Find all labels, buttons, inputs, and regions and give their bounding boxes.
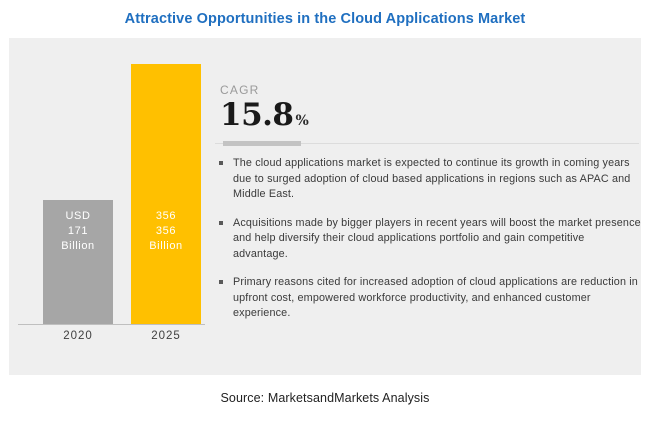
page-title-text: Attractive Opportunities in the Cloud Ap…: [125, 11, 526, 27]
page-title: Attractive Opportunities in the Cloud Ap…: [0, 6, 650, 32]
cagr-percent-symbol: %: [296, 113, 309, 129]
chart-plot-area: USD 171 Billion 356 356 Billion: [18, 38, 208, 324]
x-axis-line: [18, 324, 205, 325]
cagr-value-row: 15.8 %: [220, 98, 520, 132]
bar-2020-label-line1: USD: [65, 210, 90, 222]
cagr-value: 15.8: [220, 98, 294, 132]
bar-chart: USD 171 Billion 356 356 Billion 2020 20: [18, 38, 208, 375]
bullet-square-icon: [219, 161, 223, 165]
insights-column: CAGR 15.8 % The cloud applications marke…: [211, 38, 641, 375]
bullet-text: The cloud applications market is expecte…: [233, 157, 630, 200]
bar-2020-value-label: USD 171 Billion: [61, 209, 95, 254]
bar-2025-value-label: 356 356 Billion: [149, 209, 183, 254]
list-item: Primary reasons cited for increased adop…: [213, 275, 641, 322]
bullet-text: Primary reasons cited for increased adop…: [233, 276, 638, 319]
bullet-square-icon: [219, 280, 223, 284]
bullet-list: The cloud applications market is expecte…: [213, 156, 641, 322]
list-item: The cloud applications market is expecte…: [213, 156, 641, 203]
content-panel: USD 171 Billion 356 356 Billion 2020 20: [9, 38, 641, 375]
bar-2020: USD 171 Billion: [43, 200, 113, 324]
bullet-square-icon: [219, 221, 223, 225]
list-item: Acquisitions made by bigger players in r…: [213, 216, 641, 263]
bar-2025-label-line2: 356: [156, 225, 176, 237]
infographic-root: Attractive Opportunities in the Cloud Ap…: [0, 0, 650, 421]
bullet-text: Acquisitions made by bigger players in r…: [233, 217, 641, 260]
x-axis-labels: 2020 2025: [18, 330, 208, 352]
bar-2025-label-line3: Billion: [149, 240, 183, 252]
bar-2025: 356 356 Billion: [131, 64, 201, 324]
divider-accent-segment: [223, 141, 301, 146]
divider: [215, 141, 639, 146]
x-axis-label-2025: 2025: [131, 330, 201, 342]
cagr-label: CAGR: [220, 83, 520, 97]
bar-2025-label-line1: 356: [156, 210, 176, 222]
source-text: Source: MarketsandMarkets Analysis: [220, 391, 429, 405]
bar-2020-label-line2: 171: [68, 225, 88, 237]
x-axis-label-2020: 2020: [43, 330, 113, 342]
source-bar: Source: MarketsandMarkets Analysis: [0, 385, 650, 411]
bar-2020-label-line3: Billion: [61, 240, 95, 252]
cagr-block: CAGR 15.8 %: [220, 83, 520, 132]
